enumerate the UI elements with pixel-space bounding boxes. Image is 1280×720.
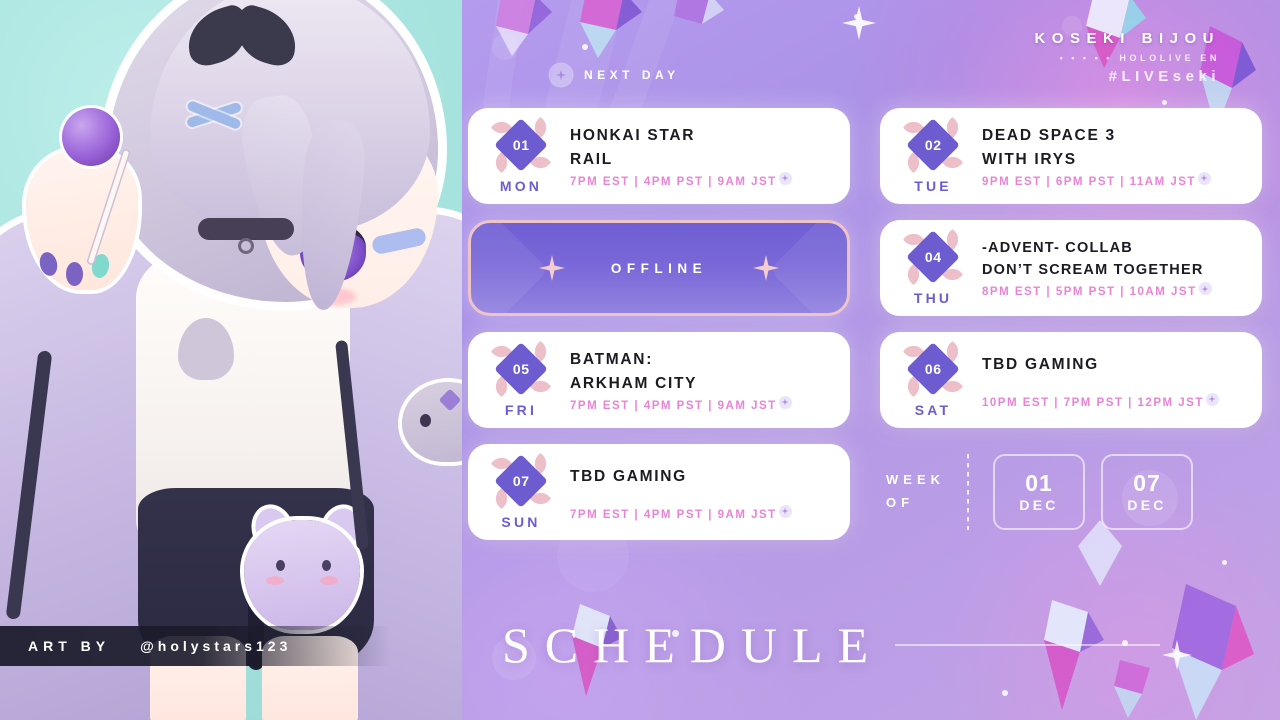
stream-title-line2: DON’T SCREAM TOGETHER xyxy=(982,260,1246,282)
sparkle-icon xyxy=(779,396,792,409)
stream-title-line2: WITH IRYS xyxy=(982,148,1246,171)
next-day-label: NEXT DAY xyxy=(584,68,680,82)
day-diamond: 01 xyxy=(492,119,550,171)
start-day: 01 xyxy=(1025,471,1053,495)
day-marker: 01 MON xyxy=(484,119,558,194)
sparkle-icon xyxy=(1198,172,1211,185)
schedule-card-mon[interactable]: 01 MON HONKAI STAR RAIL 7PM EST | 4PM PS… xyxy=(468,108,850,204)
day-diamond: 07 xyxy=(492,455,550,507)
plush-cheek-left xyxy=(266,576,284,585)
sparkle-icon xyxy=(550,64,572,86)
card-content: TBD GAMING 10PM EST | 7PM PST | 12PM JST xyxy=(976,351,1246,408)
stream-title-line2: RAIL xyxy=(570,148,834,171)
schedule-panel: KOSEKI BIJOU • • • • • HOLOLIVE EN #LIVE… xyxy=(462,0,1280,720)
plush-eye-right xyxy=(322,560,331,571)
sparkle-icon xyxy=(1206,393,1219,406)
day-name: THU xyxy=(914,290,952,306)
schedule-cell: 07 SUN TBD GAMING 7PM EST | 4PM PST | 9A… xyxy=(468,444,850,540)
start-month: DEC xyxy=(1019,497,1058,513)
sparkle-dot xyxy=(1002,690,1008,696)
crystal-decoration xyxy=(662,0,732,46)
stream-title-line1: BATMAN: xyxy=(570,348,834,371)
week-of-line1: WEEK xyxy=(886,469,945,492)
week-start-date: 01 DEC xyxy=(993,454,1085,530)
day-number: 04 xyxy=(925,248,942,264)
stream-title-line1: -ADVENT- COLLAB xyxy=(982,238,1246,260)
stream-times: 7PM EST | 4PM PST | 9AM JST xyxy=(570,509,834,521)
schedule-card-fri[interactable]: 05 FRI BATMAN: ARKHAM CITY 7PM EST | 4PM… xyxy=(468,332,850,428)
day-name: TUE xyxy=(914,178,952,194)
character-artwork xyxy=(0,0,470,720)
day-name: MON xyxy=(500,178,542,194)
schedule-cell: 05 FRI BATMAN: ARKHAM CITY 7PM EST | 4PM… xyxy=(468,332,850,428)
lollipop-icon xyxy=(62,108,120,166)
day-marker: 04 THU xyxy=(896,231,970,306)
end-month: DEC xyxy=(1127,497,1166,513)
fingernail xyxy=(66,262,83,286)
schedule-card-sun[interactable]: 07 SUN TBD GAMING 7PM EST | 4PM PST | 9A… xyxy=(468,444,850,540)
offline-label: OFFLINE xyxy=(611,261,707,276)
schedule-cell: OFFLINE xyxy=(468,220,850,316)
day-number: 02 xyxy=(925,136,942,152)
plush-charm xyxy=(244,520,360,630)
plush-eye-left xyxy=(276,560,285,571)
schedule-cell: 04 THU -ADVENT- COLLAB DON’T SCREAM TOGE… xyxy=(880,220,1262,316)
week-end-date: 07 DEC xyxy=(1101,454,1193,530)
day-diamond: 06 xyxy=(904,343,962,395)
times-text: 8PM EST | 5PM PST | 10AM JST xyxy=(982,286,1197,298)
card-content: -ADVENT- COLLAB DON’T SCREAM TOGETHER 8P… xyxy=(976,238,1246,299)
hair-bow xyxy=(186,2,306,76)
sparkle-icon xyxy=(1199,282,1212,295)
schedule-cell: 02 TUE DEAD SPACE 3 WITH IRYS 9PM EST | … xyxy=(880,108,1262,204)
week-of-block: WEEK OF 01 DEC 07 DEC xyxy=(880,444,1262,540)
times-text: 7PM EST | 4PM PST | 9AM JST xyxy=(570,176,777,188)
stream-times: 7PM EST | 4PM PST | 9AM JST xyxy=(570,400,834,412)
day-marker: 05 FRI xyxy=(484,343,558,418)
art-credit-bar: ART BY @holystars123 xyxy=(0,626,390,666)
crystal-decoration xyxy=(482,0,562,60)
schedule-cell: 01 MON HONKAI STAR RAIL 7PM EST | 4PM PS… xyxy=(468,108,850,204)
bow-loop-right xyxy=(228,2,304,70)
day-diamond: 04 xyxy=(904,231,962,283)
card-content: BATMAN: ARKHAM CITY 7PM EST | 4PM PST | … xyxy=(564,348,834,412)
four-point-star-icon xyxy=(842,6,876,40)
schedule-card-thu[interactable]: 04 THU -ADVENT- COLLAB DON’T SCREAM TOGE… xyxy=(880,220,1262,316)
day-name: SUN xyxy=(501,514,540,530)
choker xyxy=(198,218,294,240)
card-content: DEAD SPACE 3 WITH IRYS 9PM EST | 6PM PST… xyxy=(976,124,1246,188)
stream-title-line1: TBD GAMING xyxy=(982,353,1246,376)
character-illustration-panel xyxy=(0,0,470,720)
card-content: HONKAI STAR RAIL 7PM EST | 4PM PST | 9AM… xyxy=(564,124,834,188)
schedule-row: OFFLINE xyxy=(462,220,1280,316)
week-of-line2: OF xyxy=(886,492,945,515)
schedule-card-sat[interactable]: 06 SAT TBD GAMING 10PM EST | 7PM PST | 1… xyxy=(880,332,1262,428)
four-point-star-icon xyxy=(753,255,779,281)
stream-times: 10PM EST | 7PM PST | 12PM JST xyxy=(982,397,1246,409)
stream-times: 8PM EST | 5PM PST | 10AM JST xyxy=(982,286,1246,298)
times-text: 9PM EST | 6PM PST | 11AM JST xyxy=(982,176,1196,188)
crystal-decoration xyxy=(558,0,648,62)
card-content: TBD GAMING 7PM EST | 4PM PST | 9AM JST xyxy=(564,463,834,520)
stream-title-line1: TBD GAMING xyxy=(570,465,834,488)
page-title: SCHEDULE xyxy=(502,616,883,674)
day-number: 07 xyxy=(513,472,530,488)
four-point-star-icon xyxy=(539,255,565,281)
day-marker: 06 SAT xyxy=(896,343,970,418)
week-of-label: WEEK OF xyxy=(886,469,945,515)
dot-separator: • • • • • xyxy=(1060,53,1113,63)
dotted-divider xyxy=(967,454,969,530)
schedule-row: 05 FRI BATMAN: ARKHAM CITY 7PM EST | 4PM… xyxy=(462,332,1280,428)
agency-line: • • • • • HOLOLIVE EN xyxy=(1034,53,1220,63)
title-rule xyxy=(895,644,1160,646)
offline-decoration-left xyxy=(468,220,549,316)
day-marker: 07 SUN xyxy=(484,455,558,530)
schedule-cell: 06 SAT TBD GAMING 10PM EST | 7PM PST | 1… xyxy=(880,332,1262,428)
schedule-row: 07 SUN TBD GAMING 7PM EST | 4PM PST | 9A… xyxy=(462,444,1280,540)
schedule-cell: WEEK OF 01 DEC 07 DEC xyxy=(880,444,1262,540)
times-text: 10PM EST | 7PM PST | 12PM JST xyxy=(982,397,1204,409)
mascot-eye-left xyxy=(420,414,431,427)
day-number: 06 xyxy=(925,360,942,376)
times-text: 7PM EST | 4PM PST | 9AM JST xyxy=(570,509,777,521)
sparkle-icon xyxy=(779,172,792,185)
schedule-graphic: KOSEKI BIJOU • • • • • HOLOLIVE EN #LIVE… xyxy=(0,0,1280,720)
stream-title-line2: ARKHAM CITY xyxy=(570,372,834,395)
offline-card[interactable]: OFFLINE xyxy=(468,220,850,316)
stream-title-line1: DEAD SPACE 3 xyxy=(982,124,1246,147)
stream-title-line1: HONKAI STAR xyxy=(570,124,834,147)
day-marker: 02 TUE xyxy=(896,119,970,194)
offline-decoration-right xyxy=(769,220,850,316)
end-day: 07 xyxy=(1133,471,1161,495)
sparkle-dot xyxy=(582,44,588,50)
talent-name: KOSEKI BIJOU xyxy=(1034,30,1220,47)
choker-ring xyxy=(238,238,254,254)
artist-handle: @holystars123 xyxy=(140,638,291,654)
stream-times: 7PM EST | 4PM PST | 9AM JST xyxy=(570,176,834,188)
stream-hashtag: #LIVEseki xyxy=(1034,68,1220,85)
day-name: SAT xyxy=(915,402,952,418)
schedule-grid: 01 MON HONKAI STAR RAIL 7PM EST | 4PM PS… xyxy=(462,108,1280,556)
sparkle-dot xyxy=(1162,100,1167,105)
day-number: 01 xyxy=(513,136,530,152)
footer-title-block: SCHEDULE xyxy=(462,616,1280,674)
next-day-indicator: NEXT DAY xyxy=(550,64,680,86)
sparkle-dot xyxy=(1222,560,1227,565)
plush-cheek-right xyxy=(320,576,338,585)
art-by-label: ART BY xyxy=(28,638,110,654)
day-name: FRI xyxy=(505,402,537,418)
times-text: 7PM EST | 4PM PST | 9AM JST xyxy=(570,400,777,412)
day-number: 05 xyxy=(513,360,530,376)
sparkle-icon xyxy=(779,505,792,518)
day-diamond: 02 xyxy=(904,119,962,171)
schedule-row: 01 MON HONKAI STAR RAIL 7PM EST | 4PM PS… xyxy=(462,108,1280,204)
day-diamond: 05 xyxy=(492,343,550,395)
brand-header: KOSEKI BIJOU • • • • • HOLOLIVE EN #LIVE… xyxy=(1034,30,1220,85)
schedule-card-tue[interactable]: 02 TUE DEAD SPACE 3 WITH IRYS 9PM EST | … xyxy=(880,108,1262,204)
stream-times: 9PM EST | 6PM PST | 11AM JST xyxy=(982,176,1246,188)
agency-name: HOLOLIVE EN xyxy=(1119,53,1220,63)
